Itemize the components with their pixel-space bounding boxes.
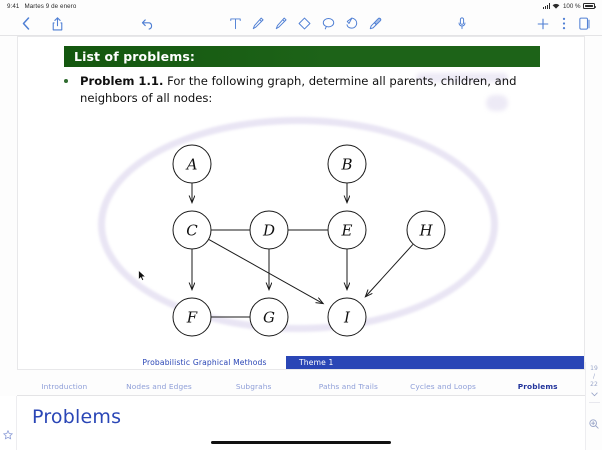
battery-icon — [583, 3, 595, 9]
microphone-icon[interactable] — [458, 17, 466, 30]
marker-tool-icon[interactable] — [369, 17, 382, 30]
back-chevron-icon[interactable] — [22, 17, 30, 30]
nav-item-problems[interactable]: Problems — [490, 382, 585, 391]
nav-item-introduction[interactable]: Introduction — [17, 382, 112, 391]
graph-edge-H-I — [365, 244, 412, 296]
drawing-tools-group — [230, 17, 382, 30]
mouse-cursor — [138, 270, 146, 281]
slide-footer-pad — [18, 356, 123, 369]
graph-node-label-E: E — [341, 222, 353, 240]
slide-canvas[interactable]: List of problems: Problem 1.1. For the f… — [17, 36, 585, 370]
tablet-screen: 9:41 Martes 9 de enero 100 % — [0, 0, 602, 450]
add-icon[interactable] — [537, 18, 549, 30]
page-rail: 19 / 22 — [585, 362, 602, 450]
share-icon[interactable] — [52, 17, 63, 31]
status-time: 9:41 — [7, 3, 19, 10]
toolbar-left-group — [0, 17, 63, 31]
chevron-down-icon[interactable] — [591, 392, 598, 397]
nav-item-cycles-and-loops[interactable]: Cycles and Loops — [396, 382, 491, 391]
pen-tool-icon[interactable] — [252, 17, 264, 30]
status-bar-left: 9:41 Martes 9 de enero — [7, 3, 76, 10]
graph-node-label-A: A — [185, 156, 198, 174]
status-bar: 9:41 Martes 9 de enero 100 % — [0, 0, 602, 12]
status-date: Martes 9 de enero — [24, 3, 76, 10]
more-options-icon[interactable] — [562, 17, 566, 30]
battery-percent-label: 100 % — [563, 3, 581, 10]
graph-node-label-C: C — [186, 222, 198, 240]
rail-divider — [589, 402, 600, 403]
text-tool-icon[interactable] — [230, 17, 241, 30]
graph-node-label-F: F — [186, 309, 198, 327]
bookmark-rail — [0, 396, 17, 450]
current-page-number: 19 — [590, 365, 598, 373]
undo-icon[interactable] — [141, 18, 154, 30]
pages-icon[interactable] — [579, 17, 590, 31]
slide-footer-title: Probabilistic Graphical Methods — [123, 356, 286, 369]
bookmark-star-icon[interactable] — [3, 420, 13, 450]
graph-node-label-I: I — [343, 309, 351, 327]
page-separator: / — [593, 373, 595, 381]
eraser-tool-icon[interactable] — [298, 17, 311, 30]
graph-diagram: ABCDEHFGI — [18, 37, 585, 370]
status-bar-right: 100 % — [543, 3, 595, 10]
slide-footer: Probabilistic Graphical Methods Theme 1 — [18, 356, 585, 369]
signal-icon — [543, 3, 550, 9]
toolbar-right-group — [537, 17, 590, 31]
graph-node-label-G: G — [263, 309, 275, 327]
nav-item-subgrahs[interactable]: Subgrahs — [206, 382, 301, 391]
graph-node-label-D: D — [262, 222, 275, 240]
bottom-section: Problems — [0, 396, 602, 450]
graph-node-label-B: B — [340, 156, 352, 174]
graph-nodes: ABCDEHFGI — [173, 145, 445, 336]
slide-footer-theme: Theme 1 — [286, 356, 585, 369]
section-nav-strip: Introduction Nodes and Edges Subgrahs Pa… — [17, 378, 585, 396]
highlighter-tool-icon[interactable] — [275, 17, 287, 30]
total-page-number: 22 — [590, 381, 598, 389]
graph-node-label-H: H — [418, 222, 433, 240]
graph-edges — [192, 184, 413, 318]
ruler-tool-icon[interactable] — [346, 17, 358, 30]
page-title: Problems — [32, 406, 121, 428]
zoom-in-icon[interactable] — [589, 419, 599, 429]
home-indicator[interactable] — [211, 441, 391, 444]
wifi-icon — [552, 3, 560, 9]
top-toolbar — [0, 12, 602, 36]
lasso-tool-icon[interactable] — [322, 17, 335, 30]
nav-item-paths-and-trails[interactable]: Paths and Trails — [301, 382, 396, 391]
nav-item-nodes-and-edges[interactable]: Nodes and Edges — [112, 382, 207, 391]
